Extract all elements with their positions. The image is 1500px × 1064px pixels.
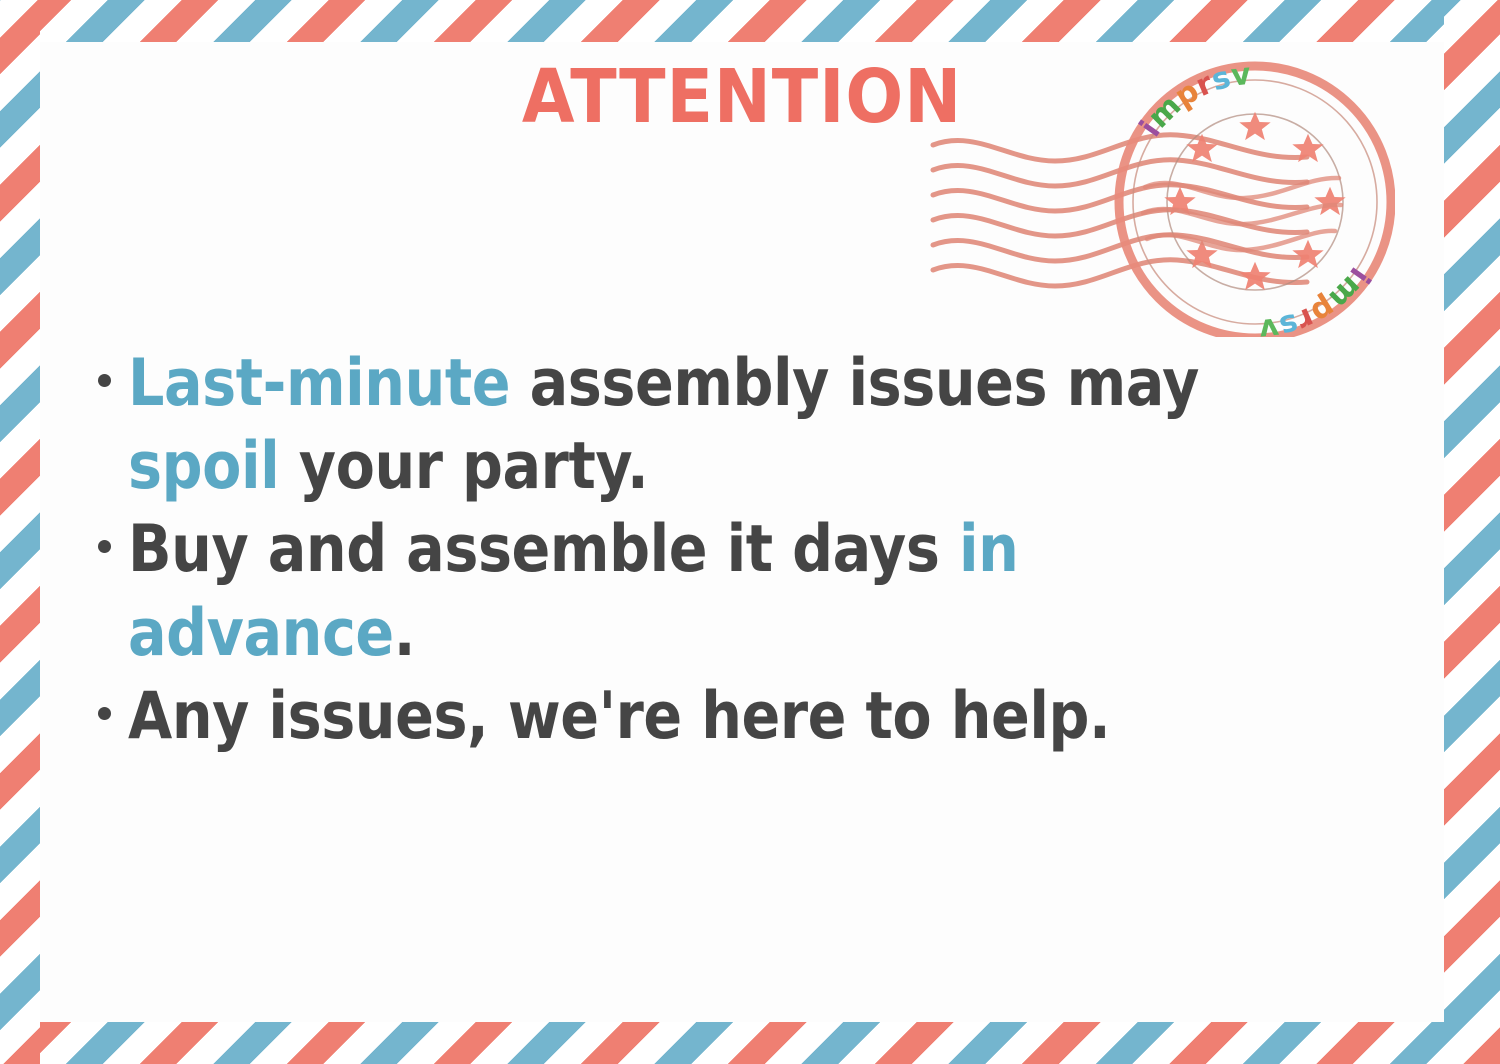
- list-item: Last-minute assembly issues may spoil yo…: [98, 342, 1434, 508]
- card-content-area: ATTENTION: [40, 42, 1444, 1022]
- bullet-3-segment-0: Any issues, we're here to help.: [128, 679, 1110, 754]
- bullet-2-segment-2: .: [394, 596, 415, 671]
- bullet-text-2: Buy and assemble it days in advance.: [128, 508, 1277, 674]
- bullet-1-segment-0: Last-minute: [128, 346, 530, 421]
- bullet-1-segment-2: spoil: [128, 429, 279, 504]
- cancellation-overlay-lines: [1143, 178, 1341, 250]
- bullet-text-1: Last-minute assembly issues may spoil yo…: [128, 342, 1277, 508]
- svg-text:imprsv: imprsv: [1257, 261, 1377, 337]
- stamp-inner-circle: [1167, 114, 1343, 290]
- stamp-brand-text-bottom: imprsv: [1257, 261, 1377, 337]
- bullet-dot-icon: [98, 707, 111, 720]
- bullet-dot-icon: [98, 374, 111, 387]
- airmail-stripe-border-right: [1444, 0, 1500, 1064]
- page-title: ATTENTION: [96, 60, 1388, 134]
- bullet-text-3: Any issues, we're here to help.: [128, 675, 1277, 758]
- list-item: Buy and assemble it days in advance.: [98, 508, 1434, 674]
- list-item: Any issues, we're here to help.: [98, 675, 1434, 758]
- cancellation-wavy-lines: [933, 135, 1307, 286]
- bullet-dot-icon: [98, 540, 111, 553]
- bullet-list: Last-minute assembly issues may spoil yo…: [98, 342, 1434, 758]
- bullet-2-segment-0: Buy and assemble it days: [128, 512, 959, 587]
- airmail-stripe-border-left: [0, 0, 40, 1064]
- bullet-1-segment-1: assembly issues may: [530, 346, 1199, 421]
- bullet-1-segment-3: your party.: [279, 429, 648, 504]
- airmail-envelope-card: ATTENTION: [0, 0, 1500, 1064]
- stamp-star-ring: [1164, 112, 1345, 290]
- airmail-stripe-border-top: [0, 0, 1500, 42]
- airmail-stripe-border-bottom: [0, 1022, 1500, 1064]
